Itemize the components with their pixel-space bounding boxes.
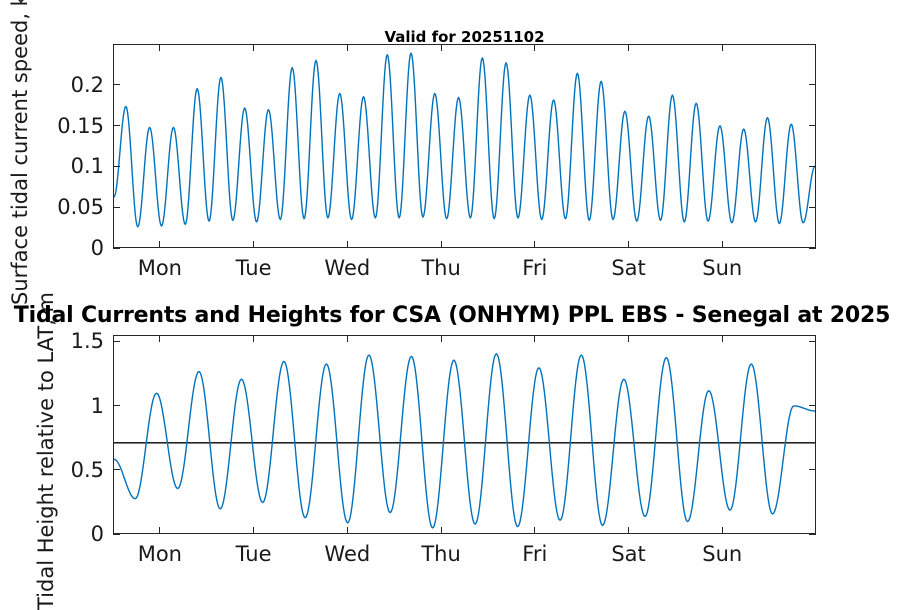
bottom-panel-ytick-mark-right <box>809 405 816 406</box>
top-panel-xtick-mark <box>253 241 254 248</box>
bottom-panel-data-line <box>114 354 815 528</box>
top-panel-xtick-mark-top <box>534 44 535 51</box>
top-panel-xtick-label: Wed <box>302 256 392 280</box>
top-panel-xtick-label: Thu <box>396 256 486 280</box>
top-panel-ytick-mark <box>113 207 120 208</box>
bottom-panel-xtick-mark <box>628 527 629 534</box>
bottom-panel-xtick-label: Tue <box>209 542 299 566</box>
top-panel-xtick-label: Mon <box>115 256 205 280</box>
top-panel-ytick-mark-right <box>809 207 816 208</box>
top-panel-xtick-mark-top <box>253 44 254 51</box>
top-panel-xtick-mark <box>441 241 442 248</box>
bottom-panel-xtick-label: Thu <box>396 542 486 566</box>
top-panel-data-line <box>114 53 815 227</box>
top-panel-ytick-mark <box>113 125 120 126</box>
top-panel-xtick-mark <box>722 241 723 248</box>
top-panel-xtick-mark-top <box>441 44 442 51</box>
top-panel-ytick-label: 0.05 <box>34 195 104 219</box>
top-panel-ytick-mark-right <box>809 84 816 85</box>
bottom-panel-xtick-mark-top <box>159 335 160 342</box>
top-panel-ytick-mark <box>113 84 120 85</box>
bottom-panel-ytick-mark-right <box>809 469 816 470</box>
top-panel-xtick-mark <box>159 241 160 248</box>
top-panel-axes <box>113 44 816 248</box>
bottom-panel-xtick-mark <box>253 527 254 534</box>
bottom-panel-ytick-label: 1.5 <box>34 329 104 353</box>
top-panel-xtick-label: Fri <box>490 256 580 280</box>
top-panel-ytick-label: 0.2 <box>34 73 104 97</box>
bottom-panel-xtick-label: Sat <box>584 542 674 566</box>
bottom-panel-xtick-mark <box>347 527 348 534</box>
top-panel-xtick-mark <box>534 241 535 248</box>
bottom-panel-xtick-label: Mon <box>115 542 205 566</box>
top-panel-ytick-label: 0 <box>34 236 104 260</box>
bottom-panel-xtick-mark-top <box>347 335 348 342</box>
bottom-panel-ytick-label: 0.5 <box>34 458 104 482</box>
tidal-figure: Surface tidal current speed, kn Tidal He… <box>0 0 900 600</box>
top-panel-xtick-mark <box>628 241 629 248</box>
bottom-panel-xtick-mark <box>722 527 723 534</box>
bottom-panel-xtick-label: Wed <box>302 542 392 566</box>
bottom-panel-ytick-mark-right <box>809 534 816 535</box>
bottom-panel-xtick-mark <box>534 527 535 534</box>
bottom-panel-ytick-label: 1 <box>34 394 104 418</box>
bottom-panel-xtick-mark-top <box>253 335 254 342</box>
bottom-panel-xtick-mark-top <box>628 335 629 342</box>
bottom-panel-xtick-label: Fri <box>490 542 580 566</box>
bottom-panel-xtick-mark <box>441 527 442 534</box>
bottom-panel-ytick-mark <box>113 534 120 535</box>
top-panel-xtick-label: Sat <box>584 256 674 280</box>
top-panel-xtick-mark-top <box>347 44 348 51</box>
top-panel-xtick-label: Sun <box>677 256 767 280</box>
top-panel-ylabel: Surface tidal current speed, kn <box>8 0 32 305</box>
bottom-panel-ytick-mark <box>113 469 120 470</box>
bottom-panel-ytick-label: 0 <box>34 522 104 546</box>
top-panel-ytick-mark-right <box>809 248 816 249</box>
top-panel-ytick-label: 0.1 <box>34 154 104 178</box>
top-panel-xtick-mark-top <box>722 44 723 51</box>
figure-suptitle: Tidal Currents and Heights for CSA (ONHY… <box>0 303 900 328</box>
bottom-panel-plot-area <box>114 336 815 533</box>
bottom-panel-ytick-mark <box>113 405 120 406</box>
top-panel-xtick-label: Tue <box>209 256 299 280</box>
bottom-panel-ytick-mark <box>113 341 120 342</box>
bottom-panel-xtick-mark-top <box>722 335 723 342</box>
top-panel-ytick-mark <box>113 248 120 249</box>
bottom-panel-xtick-mark <box>159 527 160 534</box>
top-panel-ytick-mark-right <box>809 125 816 126</box>
top-panel-ytick-mark <box>113 166 120 167</box>
top-panel-xtick-mark-top <box>628 44 629 51</box>
top-panel-plot-area <box>114 45 815 247</box>
bottom-panel-xtick-mark-top <box>534 335 535 342</box>
top-panel-xtick-mark <box>347 241 348 248</box>
bottom-panel-ytick-mark-right <box>809 341 816 342</box>
top-panel-ytick-label: 0.15 <box>34 114 104 138</box>
bottom-panel-axes <box>113 335 816 534</box>
bottom-panel-xtick-label: Sun <box>677 542 767 566</box>
bottom-panel-xtick-mark-top <box>441 335 442 342</box>
top-panel-xtick-mark-top <box>159 44 160 51</box>
top-panel-ytick-mark-right <box>809 166 816 167</box>
